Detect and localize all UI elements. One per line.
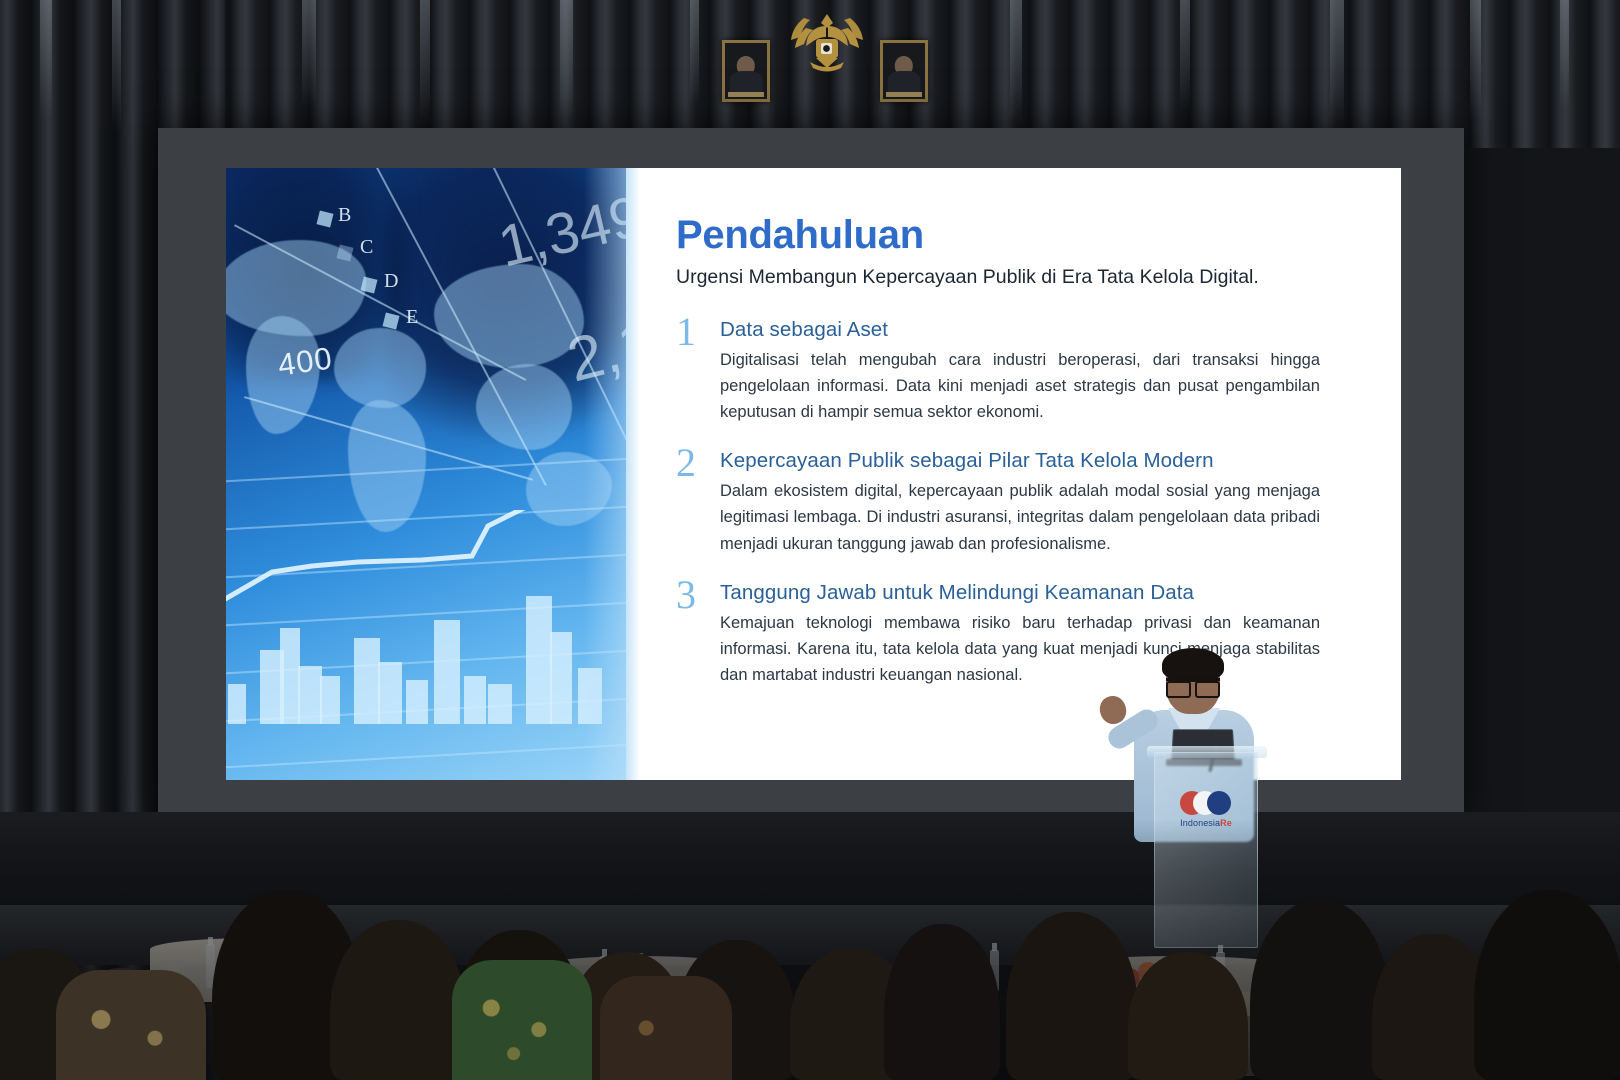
slide-point-1: 1 Data sebagai Aset Digitalisasi telah m… <box>676 318 1359 425</box>
three-circles-icon <box>1180 791 1232 815</box>
artwork-bar <box>464 676 486 724</box>
wall-highlight <box>302 0 316 110</box>
point-heading-2: Kepercayaan Publik sebagai Pilar Tata Ke… <box>720 449 1359 473</box>
series-label-e: E <box>406 306 418 329</box>
audience-area <box>0 820 1620 1080</box>
wall-highlight <box>1330 0 1344 130</box>
artwork-bar <box>320 676 340 724</box>
portrait-plaque <box>728 92 763 97</box>
artwork-bar <box>280 628 300 724</box>
series-label-c: C <box>360 236 373 259</box>
wall-highlight <box>1560 0 1569 108</box>
garuda-pancasila-emblem <box>786 6 868 78</box>
wall-highlight <box>420 0 430 126</box>
artwork-bar <box>228 684 246 724</box>
official-portrait-left <box>722 40 770 102</box>
wall-highlight <box>560 0 573 118</box>
chart-gridline <box>226 739 626 770</box>
point-number-1: 1 <box>676 312 696 352</box>
slide-point-2: 2 Kepercayaan Publik sebagai Pilar Tata … <box>676 449 1359 556</box>
artwork-bar <box>354 638 380 724</box>
artwork-trend-line <box>226 510 626 630</box>
slide-title: Pendahuluan <box>676 214 1359 256</box>
slide-subtitle: Urgensi Membangun Kepercayaan Publik di … <box>676 262 1316 292</box>
portrait-plaque <box>886 92 921 97</box>
wall-highlight <box>1470 0 1481 120</box>
point-body-2: Dalam ekosistem digital, kepercayaan pub… <box>720 478 1320 556</box>
artwork-bar <box>378 662 402 724</box>
slide-text-panel: Pendahuluan Urgensi Membangun Kepercayaa… <box>626 168 1401 780</box>
wall-highlight <box>1180 0 1190 112</box>
logo-circle-blue <box>1207 791 1231 815</box>
portrait-body <box>888 71 921 93</box>
artwork-edge-fade <box>584 168 626 780</box>
audience-batik-shoulder <box>56 970 206 1080</box>
point-number-2: 2 <box>676 443 696 483</box>
artwork-bar <box>434 620 460 724</box>
portrait-body <box>730 71 763 93</box>
wall-highlight <box>40 0 52 120</box>
series-label-b: B <box>338 204 351 227</box>
point-number-3: 3 <box>676 575 696 615</box>
point-heading-1: Data sebagai Aset <box>720 318 1359 342</box>
conference-hall-room: 1,349 2,1 400 B C D E <box>0 0 1620 1080</box>
point-heading-3: Tanggung Jawab untuk Melindungi Keamanan… <box>720 581 1359 605</box>
artwork-bar <box>298 666 322 724</box>
map-continent <box>334 328 426 408</box>
audience-batik-shoulder <box>600 976 732 1080</box>
artwork-value-400: 400 <box>276 340 335 383</box>
official-portrait-right <box>880 40 928 102</box>
artwork-bar <box>406 680 428 724</box>
audience-batik-shoulder <box>452 960 592 1080</box>
point-body-1: Digitalisasi telah mengubah cara industr… <box>720 347 1320 425</box>
artwork-bar <box>550 632 572 724</box>
wall-highlight <box>112 0 121 132</box>
presenter-hair <box>1162 648 1224 682</box>
slide-accent-stripe <box>626 168 640 780</box>
wall-highlight <box>1010 0 1022 124</box>
state-emblem-group <box>700 2 950 112</box>
series-label-d: D <box>384 270 398 293</box>
wall-highlight <box>690 0 699 104</box>
eyeglasses-icon <box>1166 678 1220 691</box>
podium-top-surface <box>1147 746 1267 758</box>
artwork-bar <box>526 596 552 724</box>
artwork-bar <box>488 684 512 724</box>
slide-artwork-panel: 1,349 2,1 400 B C D E <box>226 168 626 780</box>
